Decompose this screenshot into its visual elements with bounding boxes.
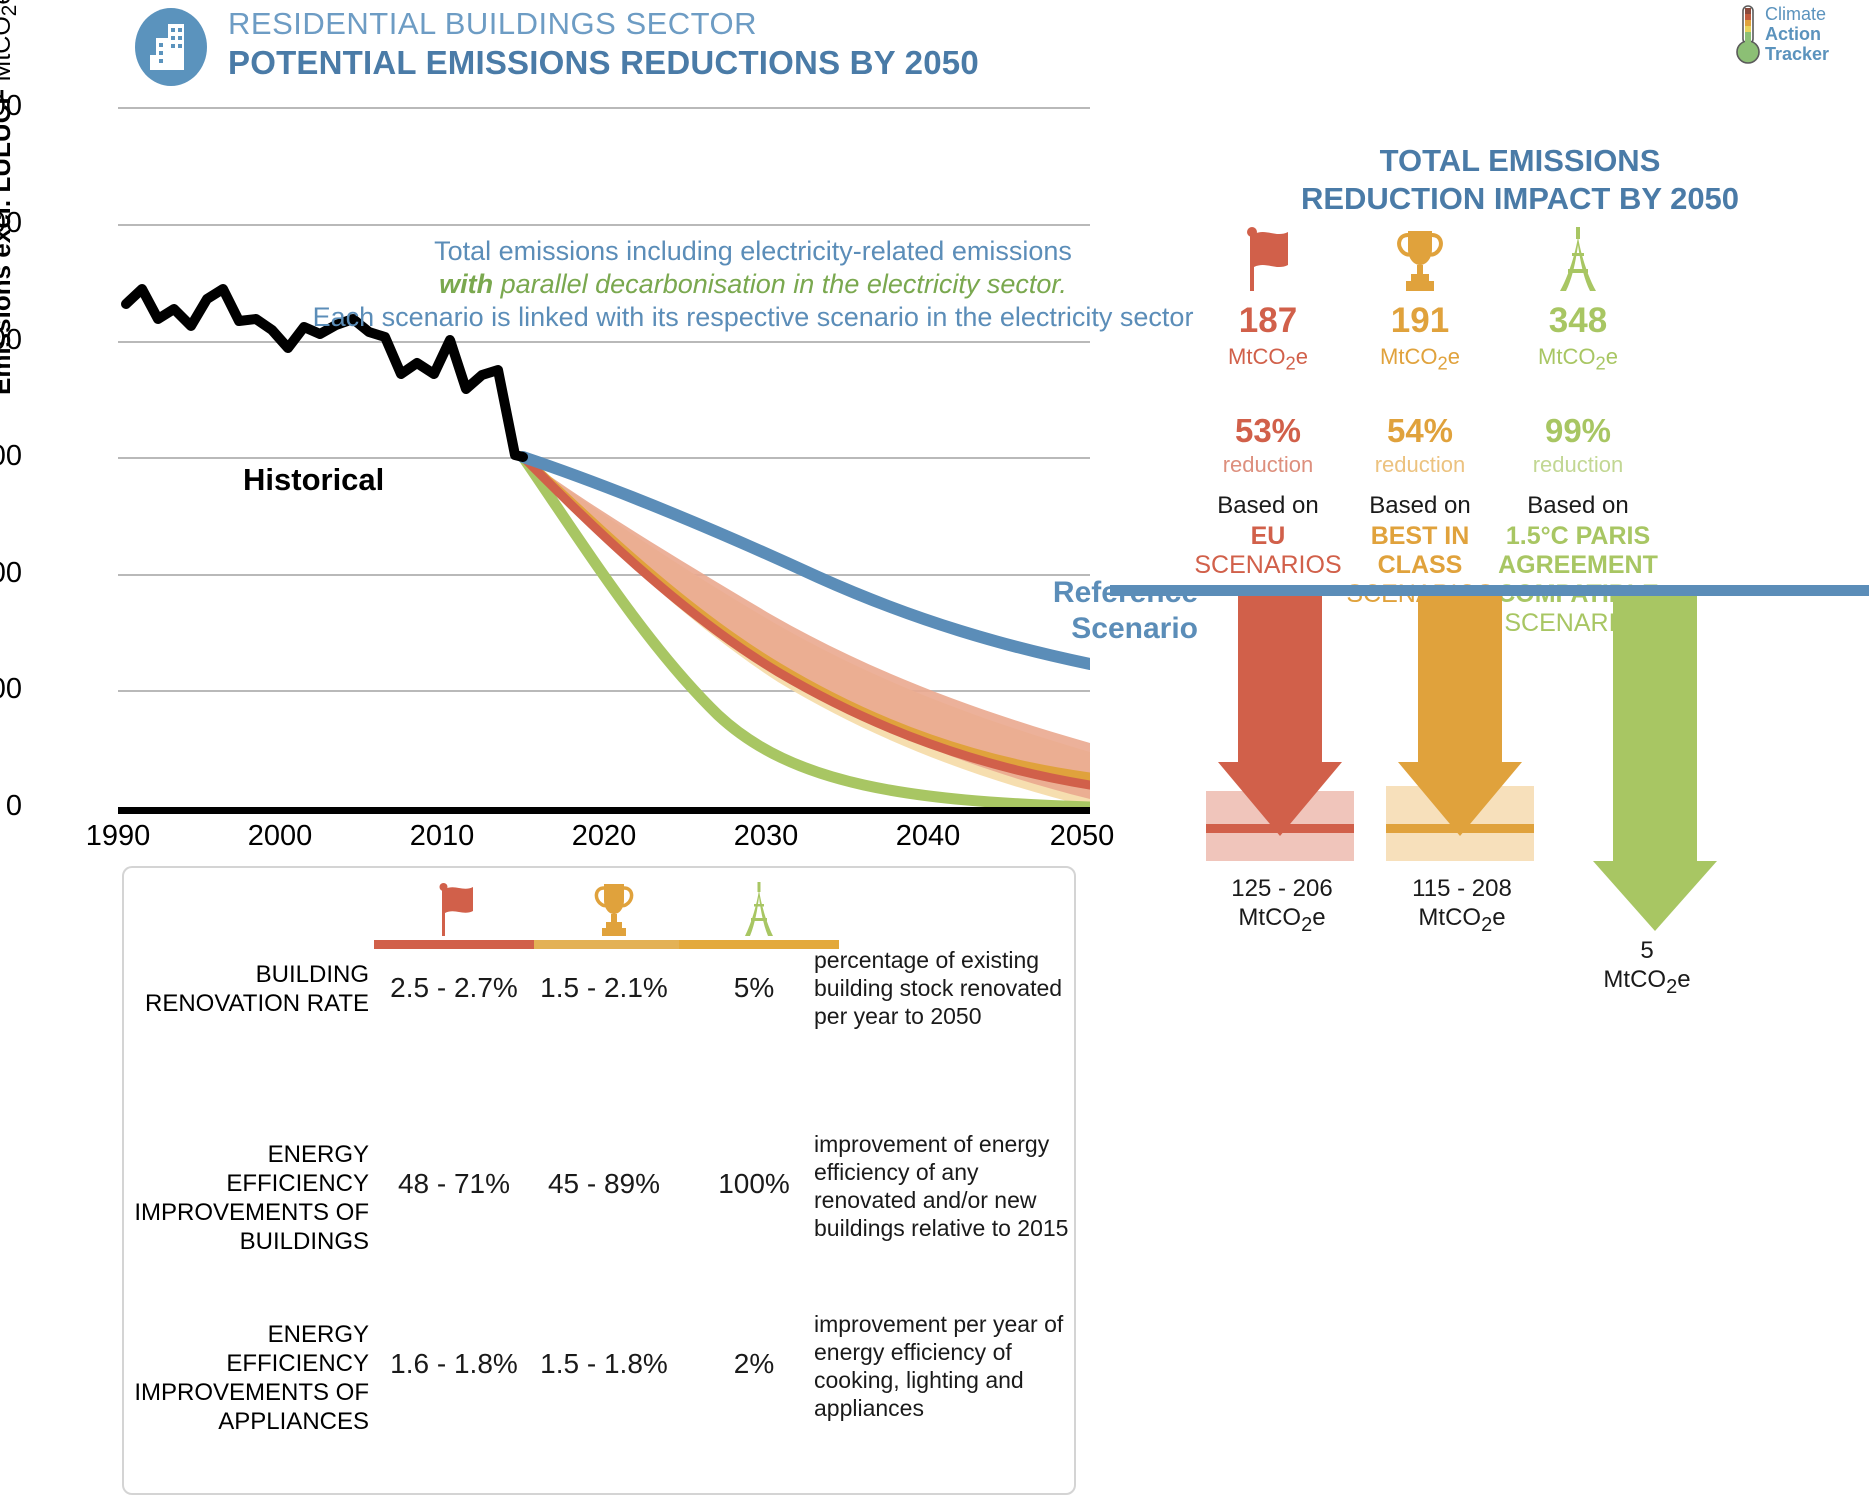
x-tick-1990: 1990 xyxy=(48,820,188,853)
impact-percent-sub: reduction xyxy=(1330,452,1510,478)
table-icon-rule-eu xyxy=(374,940,534,949)
eiffel-tower-icon xyxy=(679,878,839,936)
emissions-chart: Emissions excl. LULUCF MtCO2e Total e xyxy=(0,95,1120,855)
flag-icon xyxy=(374,878,534,936)
eu-range-line-2: MtCO2e xyxy=(1194,903,1370,940)
logo-line-climate: Climate xyxy=(1765,4,1829,24)
impact-percent-sub: reduction xyxy=(1488,452,1668,478)
scenario-assumptions-table: BUILDINGRENOVATION RATE 2.5 - 2.7% 1.5 -… xyxy=(122,866,1076,1495)
impact-based-on: Based on xyxy=(1488,492,1668,520)
table-cell: 2% xyxy=(674,1348,834,1380)
buildings-icon xyxy=(135,8,207,86)
y-tick-0: 0 xyxy=(0,790,22,823)
arrow-head xyxy=(1593,861,1717,931)
table-cell: 2.5 - 2.7% xyxy=(374,972,534,1004)
eu-range-line-1: 125 - 206 xyxy=(1194,874,1370,903)
table-row-description: percentage of existing building stock re… xyxy=(814,946,1079,1030)
panel-title: TOTAL EMISSIONS REDUCTION IMPACT BY 2050 xyxy=(1170,142,1869,218)
trophy-icon xyxy=(534,878,694,936)
x-tick-2000: 2000 xyxy=(210,820,350,853)
arrow-head xyxy=(1398,762,1522,836)
historical-series-label: Historical xyxy=(243,462,384,498)
impact-percent: 99% xyxy=(1488,412,1668,450)
thermometer-icon xyxy=(1735,4,1761,66)
arrow-shaft xyxy=(1418,596,1502,762)
x-axis-line xyxy=(118,807,1090,814)
y-tick-600: 600 xyxy=(0,440,22,473)
table-row-description: improvement of energy efficiency of any … xyxy=(814,1130,1079,1242)
page-header: RESIDENTIAL BUILDINGS SECTOR POTENTIAL E… xyxy=(0,0,1869,100)
x-tick-2030: 2030 xyxy=(696,820,836,853)
eu-range-label: 125 - 206 MtCO2e xyxy=(1194,874,1370,940)
table-icon-col-paris xyxy=(679,878,839,949)
y-tick-400: 400 xyxy=(0,557,22,590)
climate-action-tracker-logo: Climate Action Tracker xyxy=(1735,4,1860,66)
impact-scenario-strong: BEST INCLASS xyxy=(1330,522,1510,580)
y-tick-800: 800 xyxy=(0,324,22,357)
plot-region: Total emissions including electricity-re… xyxy=(118,107,1090,807)
table-cell: 1.5 - 1.8% xyxy=(524,1348,684,1380)
impact-percent: 54% xyxy=(1330,412,1510,450)
x-tick-2020: 2020 xyxy=(534,820,674,853)
paris-range-label: 5 MtCO2e xyxy=(1552,936,1742,1002)
reduction-impact-panel: TOTAL EMISSIONS REDUCTION IMPACT BY 2050… xyxy=(1110,130,1869,870)
table-cell: 45 - 89% xyxy=(524,1168,684,1200)
impact-value: 348 xyxy=(1488,301,1668,341)
logo-wordmark: Climate Action Tracker xyxy=(1765,4,1829,64)
impact-unit: MtCO2e xyxy=(1488,344,1668,374)
x-tick-2040: 2040 xyxy=(858,820,998,853)
title-eyebrow: RESIDENTIAL BUILDINGS SECTOR xyxy=(228,5,979,43)
arrow-shaft xyxy=(1613,596,1697,861)
impact-value: 191 xyxy=(1330,301,1510,341)
panel-title-line-2: REDUCTION IMPACT BY 2050 xyxy=(1170,180,1869,218)
arrow-shaft xyxy=(1238,596,1322,762)
bic-range-line-2: MtCO2e xyxy=(1374,903,1550,940)
table-cell: 48 - 71% xyxy=(374,1168,534,1200)
y-tick-200: 200 xyxy=(0,673,22,706)
table-row-label: ENERGY EFFICIENCYIMPROVEMENTS OFAPPLIANC… xyxy=(134,1320,369,1436)
eiffel-tower-icon xyxy=(1488,225,1668,293)
arrow-head xyxy=(1218,762,1342,836)
table-row-description: improvement per year of energy efficienc… xyxy=(814,1310,1079,1422)
impact-column-paris: 348 MtCO2e 99% reduction Based on 1.5°C … xyxy=(1488,225,1668,638)
page-title: RESIDENTIAL BUILDINGS SECTOR POTENTIAL E… xyxy=(228,5,979,83)
y-axis-unit: MtCO2e xyxy=(0,0,16,81)
table-icon-rule-best-in-class xyxy=(534,940,694,949)
table-cell: 1.6 - 1.8% xyxy=(374,1348,534,1380)
annotation-line-1: Total emissions including electricity-re… xyxy=(308,235,1198,268)
chart-annotation: Total emissions including electricity-re… xyxy=(308,235,1198,334)
impact-based-on: Based on xyxy=(1330,492,1510,520)
paris-range-line-1: 5 xyxy=(1552,936,1742,965)
reference-baseline-bar xyxy=(1110,585,1869,596)
annotation-line-2: with parallel decarbonisation in the ele… xyxy=(308,268,1198,301)
logo-line-tracker: Tracker xyxy=(1765,44,1829,64)
bic-range-line-1: 115 - 208 xyxy=(1374,874,1550,903)
logo-line-action: Action xyxy=(1765,24,1829,44)
table-cell: 1.5 - 2.1% xyxy=(524,972,684,1004)
impact-column-best-in-class: 191 MtCO2e 54% reduction Based on BEST I… xyxy=(1330,225,1510,609)
table-icon-col-best-in-class xyxy=(534,878,694,949)
table-row-label: ENERGY EFFICIENCYIMPROVEMENTS OFBUILDING… xyxy=(134,1140,369,1256)
annotation-with: with xyxy=(439,269,493,299)
panel-title-line-1: TOTAL EMISSIONS xyxy=(1170,142,1869,180)
annotation-line-2-rest: parallel decarbonisation in the electric… xyxy=(493,269,1067,299)
impact-unit: MtCO2e xyxy=(1330,344,1510,374)
annotation-line-3: Each scenario is linked with its respect… xyxy=(308,301,1198,334)
paris-range-line-2: MtCO2e xyxy=(1552,965,1742,1002)
title-main: POTENTIAL EMISSIONS REDUCTIONS BY 2050 xyxy=(228,43,979,83)
x-tick-2010: 2010 xyxy=(372,820,512,853)
y-tick-1200: 1200 xyxy=(0,90,22,123)
bic-range-label: 115 - 208 MtCO2e xyxy=(1374,874,1550,940)
table-cell: 5% xyxy=(674,972,834,1004)
y-tick-1000: 1000 xyxy=(0,207,22,240)
table-icon-col-eu xyxy=(374,878,534,949)
trophy-icon xyxy=(1330,225,1510,293)
table-cell: 100% xyxy=(674,1168,834,1200)
table-row-label: BUILDINGRENOVATION RATE xyxy=(134,960,369,1018)
